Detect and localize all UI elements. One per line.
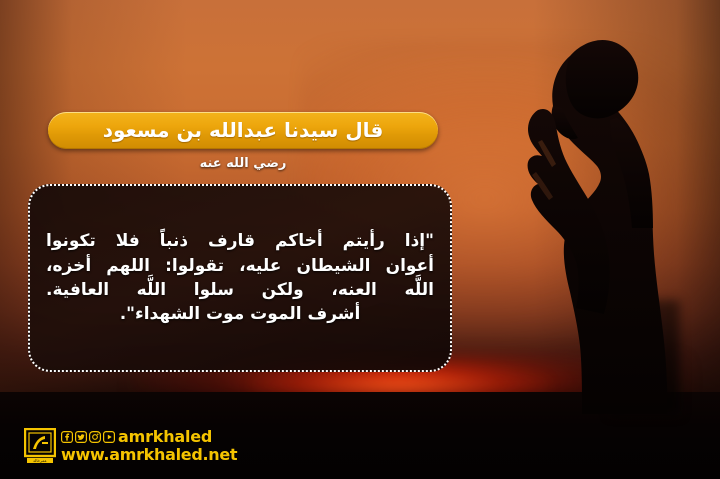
title-banner: قال سيدنا عبدالله بن مسعود	[48, 112, 438, 149]
quote-line-3: اللَّه العنه، ولكن سلوا اللَّه العافية.	[46, 278, 434, 302]
banner-title-text: قال سيدنا عبدالله بن مسعود	[103, 118, 384, 142]
youtube-icon[interactable]	[103, 431, 115, 443]
quote-text-block: "إذا رأيتم أخاكم قارف ذنباً فلا تكونوا أ…	[30, 229, 450, 327]
quote-card: قال سيدنا عبدالله بن مسعود رضي الله عنه …	[0, 0, 720, 479]
banner-subtitle: رضي الله عنه	[48, 156, 438, 171]
quote-line-1: "إذا رأيتم أخاكم قارف ذنباً فلا تكونوا	[46, 229, 434, 253]
footer-text-block: amrkhaled www.amrkhaled.net	[61, 429, 237, 463]
social-handle-text[interactable]: amrkhaled	[118, 429, 212, 445]
facebook-icon[interactable]	[61, 431, 73, 443]
twitter-icon[interactable]	[75, 431, 87, 443]
svg-text:عمرخالد: عمرخالد	[33, 458, 47, 463]
praying-man-silhouette	[452, 14, 720, 414]
quote-line-2: أعوان الشيطان عليه، تقولوا: اللهم أخزه،	[46, 254, 434, 278]
amrkhaled-logo-icon[interactable]: عمرخالد	[24, 428, 56, 464]
quote-box: "إذا رأيتم أخاكم قارف ذنباً فلا تكونوا أ…	[28, 184, 452, 372]
footer-branding: عمرخالد	[24, 428, 237, 464]
quote-line-4: أشرف الموت موت الشهداء".	[46, 302, 434, 326]
social-handle-row: amrkhaled	[61, 429, 237, 445]
instagram-icon[interactable]	[89, 431, 101, 443]
website-url[interactable]: www.amrkhaled.net	[61, 447, 237, 463]
